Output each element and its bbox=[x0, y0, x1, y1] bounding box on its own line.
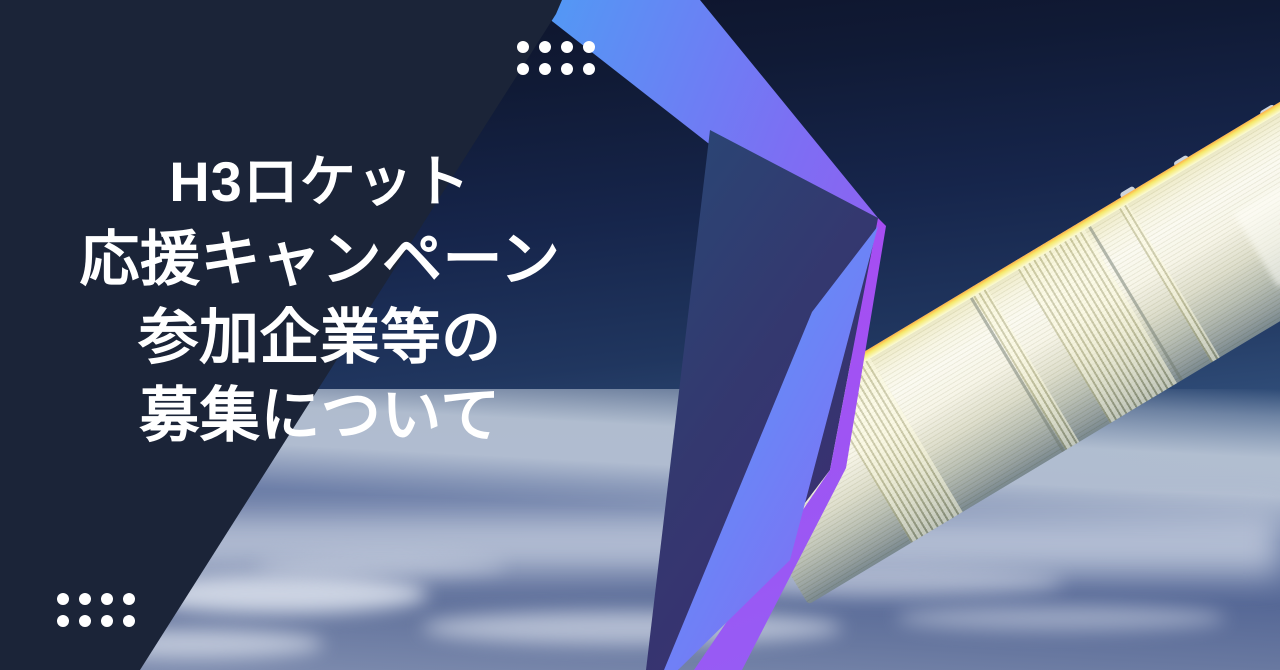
page-title: H3ロケット 応援キャンペーン 参加企業等の 募集について bbox=[0, 143, 640, 455]
dot bbox=[561, 63, 573, 75]
dot bbox=[57, 615, 69, 627]
title-line-1: H3ロケット bbox=[0, 143, 640, 221]
dot bbox=[57, 593, 69, 605]
title-line-2: 応援キャンペーン bbox=[0, 221, 640, 299]
dot bbox=[79, 593, 91, 605]
dot bbox=[539, 41, 551, 53]
dot bbox=[123, 593, 135, 605]
campaign-banner: H3ロケット 応援キャンペーン 参加企業等の 募集について bbox=[0, 0, 1280, 670]
dot bbox=[561, 41, 573, 53]
dot bbox=[123, 615, 135, 627]
dot-grid-bottom-left bbox=[57, 593, 135, 627]
cloud bbox=[256, 555, 506, 577]
dot bbox=[517, 63, 529, 75]
dot-grid-top-right bbox=[517, 41, 595, 75]
title-line-3: 参加企業等の bbox=[0, 299, 640, 377]
dot bbox=[517, 41, 529, 53]
dot bbox=[101, 593, 113, 605]
dot bbox=[583, 63, 595, 75]
cloud bbox=[422, 611, 842, 645]
dot bbox=[79, 615, 91, 627]
dot bbox=[101, 615, 113, 627]
title-line-4: 募集について bbox=[0, 377, 640, 455]
dot bbox=[539, 63, 551, 75]
cloud bbox=[896, 605, 1226, 631]
dot bbox=[583, 41, 595, 53]
